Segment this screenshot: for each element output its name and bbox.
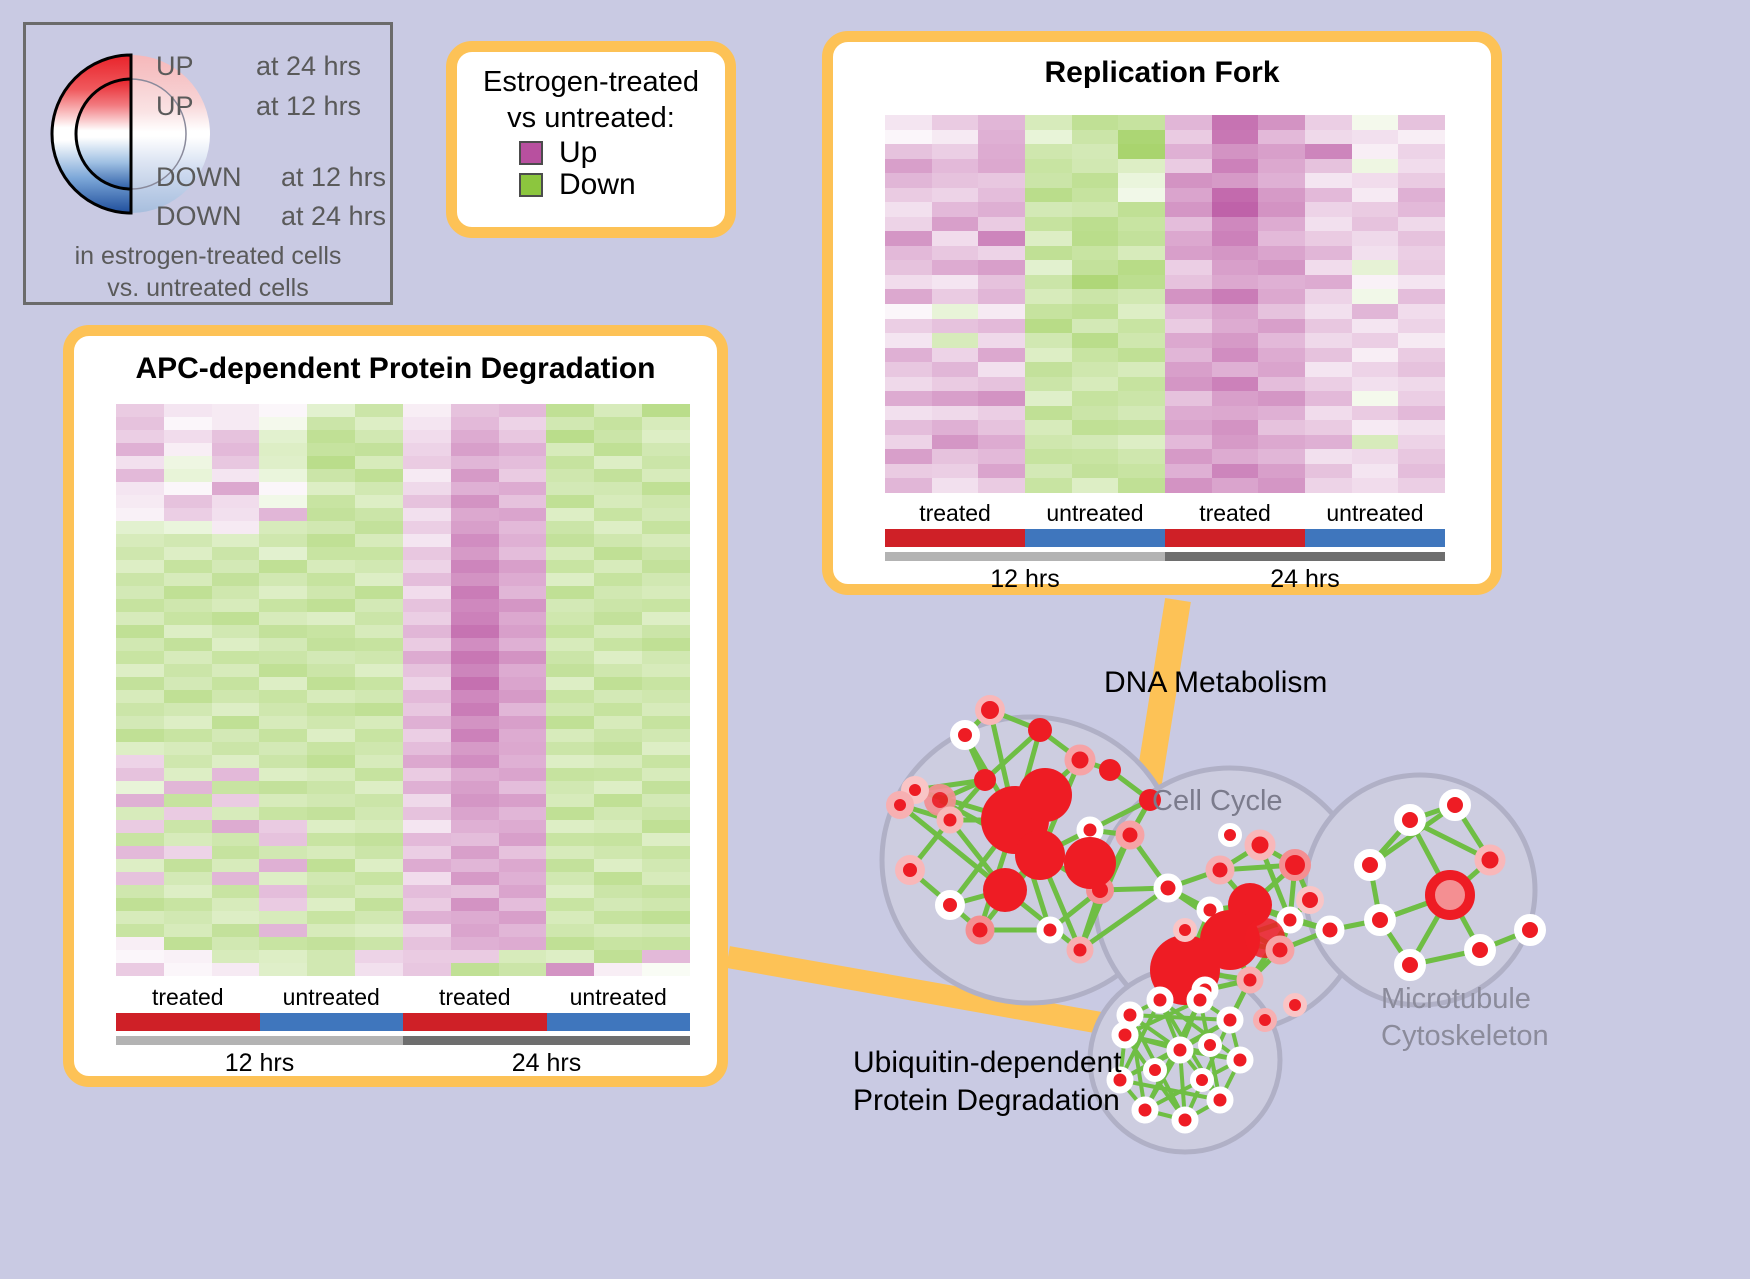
heatmap-cell xyxy=(546,495,594,508)
heatmap-cell xyxy=(594,729,642,742)
heatmap-cell xyxy=(642,937,690,950)
heatmap-cell xyxy=(164,638,212,651)
heatmap-cell xyxy=(594,508,642,521)
heatmap-cell xyxy=(885,348,932,363)
heatmap-cell xyxy=(116,742,164,755)
heatmap-cell xyxy=(355,586,403,599)
heatmap-cell xyxy=(594,495,642,508)
heatmap-cell xyxy=(1352,406,1399,421)
heatmap-cell xyxy=(116,456,164,469)
heatmap-cell xyxy=(1118,435,1165,450)
heatmap-cell xyxy=(164,911,212,924)
heatmap-cell xyxy=(642,521,690,534)
heatmap-cell xyxy=(164,430,212,443)
color-key-label-down12: DOWN xyxy=(156,162,241,193)
heatmap-cell xyxy=(116,950,164,963)
heatmap-cell xyxy=(1398,115,1445,130)
heatmap-cell xyxy=(451,729,499,742)
heatmap-cell xyxy=(1212,420,1259,435)
apc-group-bar-1 xyxy=(260,1013,404,1031)
heatmap-cell xyxy=(403,898,451,911)
heatmap-cell xyxy=(1118,478,1165,493)
heatmap-cell xyxy=(1212,289,1259,304)
heatmap-cell xyxy=(1118,406,1165,421)
heatmap-cell xyxy=(932,173,979,188)
heatmap-cell xyxy=(594,807,642,820)
heatmap-cell xyxy=(499,612,547,625)
rf-group-bar-2 xyxy=(1165,529,1305,547)
heatmap-cell xyxy=(164,729,212,742)
heatmap-cell xyxy=(594,573,642,586)
heatmap-cell xyxy=(546,508,594,521)
heatmap-cell xyxy=(978,289,1025,304)
heatmap-cell xyxy=(546,807,594,820)
heatmap-cell xyxy=(642,768,690,781)
heatmap-cell xyxy=(355,547,403,560)
heatmap-cell xyxy=(355,651,403,664)
heatmap-cell xyxy=(1352,362,1399,377)
heatmap-cell xyxy=(594,586,642,599)
heatmap-cell xyxy=(642,963,690,976)
heatmap-cell xyxy=(259,638,307,651)
heatmap-cell xyxy=(594,625,642,638)
heatmap-cell xyxy=(307,599,355,612)
heatmap-cell xyxy=(642,573,690,586)
heatmap-cell xyxy=(885,420,932,435)
heatmap-cell xyxy=(932,144,979,159)
apc-timepoint-bar-24 xyxy=(403,1036,690,1045)
heatmap-cell xyxy=(212,794,260,807)
heatmap-cell xyxy=(1118,289,1165,304)
heatmap-cell xyxy=(642,443,690,456)
heatmap-cell xyxy=(259,599,307,612)
heatmap-cell xyxy=(355,456,403,469)
heatmap-cell xyxy=(1398,449,1445,464)
heatmap-cell xyxy=(116,885,164,898)
heatmap-cell xyxy=(307,560,355,573)
rf-timepoint-bar xyxy=(885,552,1445,561)
heatmap-cell xyxy=(355,898,403,911)
heatmap-cell xyxy=(212,846,260,859)
heatmap-cell xyxy=(642,625,690,638)
heatmap-cell xyxy=(355,963,403,976)
heatmap-cell xyxy=(307,807,355,820)
cluster-label-cell-cycle: Cell Cycle xyxy=(1152,785,1283,818)
heatmap-cell xyxy=(403,937,451,950)
heatmap-cell xyxy=(212,586,260,599)
heatmap-cell xyxy=(1212,391,1259,406)
heatmap-cell xyxy=(1072,130,1119,145)
heatmap-cell xyxy=(1072,304,1119,319)
heatmap-cell xyxy=(1305,420,1352,435)
heatmap-cell xyxy=(978,275,1025,290)
heatmap-cell xyxy=(307,508,355,521)
heatmap-cell xyxy=(594,755,642,768)
heatmap-cell xyxy=(932,406,979,421)
heatmap-cell xyxy=(499,924,547,937)
heatmap-cell xyxy=(1352,130,1399,145)
heatmap-cell xyxy=(1072,406,1119,421)
heatmap-cell xyxy=(1352,348,1399,363)
heatmap-cell xyxy=(212,612,260,625)
heatmap-cell xyxy=(1212,435,1259,450)
heatmap-cell xyxy=(307,794,355,807)
cluster-label-dna-metabolism: DNA Metabolism xyxy=(1104,666,1327,700)
heatmap-cell xyxy=(212,898,260,911)
heatmap-cell xyxy=(1165,289,1212,304)
heatmap-cell xyxy=(1212,464,1259,479)
heatmap-cell xyxy=(451,521,499,534)
heatmap-cell xyxy=(307,404,355,417)
heatmap-cell xyxy=(642,547,690,560)
heatmap-cell xyxy=(1398,260,1445,275)
heatmap-cell xyxy=(1165,377,1212,392)
heatmap-cell xyxy=(1258,202,1305,217)
heatmap-cell xyxy=(1212,348,1259,363)
heatmap-cell xyxy=(594,430,642,443)
color-key-time-up12: at 12 hrs xyxy=(256,91,361,122)
heatmap-cell xyxy=(642,430,690,443)
heatmap-cell xyxy=(546,781,594,794)
heatmap-cell xyxy=(1212,260,1259,275)
heatmap-cell xyxy=(259,404,307,417)
heatmap-cell xyxy=(1305,319,1352,334)
heatmap-cell xyxy=(642,664,690,677)
heatmap-cell xyxy=(116,716,164,729)
heatmap-cell xyxy=(1072,449,1119,464)
heatmap-cell xyxy=(932,319,979,334)
heatmap-cell xyxy=(932,289,979,304)
heatmap-cell xyxy=(1165,348,1212,363)
rf-timepoint-bar-24 xyxy=(1165,552,1445,561)
replication-fork-heatmap xyxy=(885,115,1445,493)
heatmap-cell xyxy=(212,872,260,885)
cluster-label-microtubule-line1: Microtubule xyxy=(1381,981,1549,1018)
heatmap-cell xyxy=(307,690,355,703)
heatmap-cell xyxy=(1118,231,1165,246)
heatmap-cell xyxy=(164,859,212,872)
heatmap-cell xyxy=(1352,478,1399,493)
heatmap-cell xyxy=(546,755,594,768)
heatmap-cell xyxy=(212,495,260,508)
color-key-footer-line1: in estrogen-treated cells xyxy=(26,240,390,272)
heatmap-cell xyxy=(355,781,403,794)
heatmap-cell xyxy=(1118,449,1165,464)
heatmap-cell xyxy=(1305,188,1352,203)
heatmap-cell xyxy=(307,430,355,443)
heatmap-cell xyxy=(403,729,451,742)
heatmap-cell xyxy=(1212,144,1259,159)
rf-group-label-2: treated xyxy=(1165,500,1305,527)
legend-swatch-down xyxy=(519,173,543,197)
heatmap-cell xyxy=(212,885,260,898)
heatmap-cell xyxy=(1212,275,1259,290)
heatmap-cell xyxy=(499,404,547,417)
heatmap-cell xyxy=(1258,391,1305,406)
heatmap-cell xyxy=(259,677,307,690)
color-key-label-down24: DOWN xyxy=(156,201,241,232)
heatmap-cell xyxy=(594,872,642,885)
heatmap-cell xyxy=(355,495,403,508)
heatmap-cell xyxy=(164,495,212,508)
heatmap-cell xyxy=(642,820,690,833)
heatmap-cell xyxy=(1072,275,1119,290)
heatmap-cell xyxy=(1118,464,1165,479)
heatmap-cell xyxy=(1305,144,1352,159)
heatmap-cell xyxy=(978,304,1025,319)
network-diagram xyxy=(790,620,1750,1279)
heatmap-cell xyxy=(451,612,499,625)
heatmap-cell xyxy=(212,547,260,560)
heatmap-cell xyxy=(259,898,307,911)
heatmap-cell xyxy=(594,547,642,560)
heatmap-cell xyxy=(403,534,451,547)
heatmap-cell xyxy=(1258,188,1305,203)
heatmap-cell xyxy=(451,625,499,638)
heatmap-cell xyxy=(403,560,451,573)
heatmap-cell xyxy=(546,924,594,937)
heatmap-cell xyxy=(116,794,164,807)
heatmap-cell xyxy=(642,924,690,937)
heatmap-cell xyxy=(1072,319,1119,334)
heatmap-cell xyxy=(116,729,164,742)
heatmap-cell xyxy=(546,950,594,963)
heatmap-cell xyxy=(642,404,690,417)
heatmap-cell xyxy=(355,560,403,573)
heatmap-cell xyxy=(307,534,355,547)
heatmap-cell xyxy=(355,820,403,833)
heatmap-cell xyxy=(116,612,164,625)
heatmap-cell xyxy=(1025,217,1072,232)
heatmap-cell xyxy=(1352,464,1399,479)
heatmap-cell xyxy=(499,417,547,430)
heatmap-cell xyxy=(1258,420,1305,435)
heatmap-cell xyxy=(546,573,594,586)
heatmap-cell xyxy=(164,924,212,937)
heatmap-cell xyxy=(885,202,932,217)
heatmap-cell xyxy=(1398,391,1445,406)
heatmap-cell xyxy=(1398,406,1445,421)
heatmap-cell xyxy=(1118,217,1165,232)
legend-title: Estrogen-treated vs untreated: xyxy=(457,64,725,136)
heatmap-cell xyxy=(403,547,451,560)
heatmap-cell xyxy=(307,885,355,898)
heatmap-cell xyxy=(355,417,403,430)
heatmap-cell xyxy=(499,755,547,768)
heatmap-cell xyxy=(642,794,690,807)
heatmap-cell xyxy=(212,677,260,690)
heatmap-cell xyxy=(164,573,212,586)
apc-timepoint-bar-12 xyxy=(116,1036,403,1045)
apc-annotation: treated untreated treated untreated 12 h… xyxy=(116,984,690,1078)
heatmap-cell xyxy=(451,560,499,573)
heatmap-cell xyxy=(1398,348,1445,363)
heatmap-cell xyxy=(1072,435,1119,450)
heatmap-cell xyxy=(546,521,594,534)
heatmap-cell xyxy=(116,859,164,872)
heatmap-cell xyxy=(1398,435,1445,450)
heatmap-cell xyxy=(594,781,642,794)
heatmap-cell xyxy=(307,833,355,846)
heatmap-cell xyxy=(307,638,355,651)
heatmap-cell xyxy=(642,560,690,573)
heatmap-cell xyxy=(546,586,594,599)
heatmap-cell xyxy=(1352,144,1399,159)
heatmap-cell xyxy=(212,781,260,794)
heatmap-cell xyxy=(1398,246,1445,261)
heatmap-cell xyxy=(1072,159,1119,174)
rf-timepoint-bar-12 xyxy=(885,552,1165,561)
heatmap-cell xyxy=(499,534,547,547)
heatmap-cell xyxy=(1212,406,1259,421)
heatmap-cell xyxy=(1352,202,1399,217)
heatmap-cell xyxy=(932,333,979,348)
heatmap-cell xyxy=(116,534,164,547)
heatmap-cell xyxy=(499,911,547,924)
heatmap-cell xyxy=(546,443,594,456)
heatmap-cell xyxy=(1118,202,1165,217)
heatmap-cell xyxy=(594,937,642,950)
color-key-footer: in estrogen-treated cells vs. untreated … xyxy=(26,240,390,304)
heatmap-cell xyxy=(212,820,260,833)
heatmap-cell xyxy=(642,482,690,495)
heatmap-cell xyxy=(1072,173,1119,188)
heatmap-cell xyxy=(642,781,690,794)
heatmap-cell xyxy=(1212,159,1259,174)
heatmap-cell xyxy=(403,638,451,651)
heatmap-cell xyxy=(978,435,1025,450)
heatmap-cell xyxy=(259,417,307,430)
heatmap-cell xyxy=(594,833,642,846)
heatmap-cell xyxy=(1165,188,1212,203)
heatmap-cell xyxy=(546,768,594,781)
heatmap-cell xyxy=(885,464,932,479)
heatmap-cell xyxy=(642,911,690,924)
heatmap-cell xyxy=(594,820,642,833)
heatmap-cell xyxy=(1258,144,1305,159)
rf-group-label-3: untreated xyxy=(1305,500,1445,527)
heatmap-cell xyxy=(1305,435,1352,450)
heatmap-cell xyxy=(212,573,260,586)
heatmap-cell xyxy=(116,417,164,430)
heatmap-cell xyxy=(642,742,690,755)
heatmap-cell xyxy=(1165,304,1212,319)
heatmap-cell xyxy=(1118,304,1165,319)
heatmap-cell xyxy=(1258,130,1305,145)
heatmap-cell xyxy=(403,625,451,638)
color-key-time-down12: at 12 hrs xyxy=(281,162,386,193)
heatmap-cell xyxy=(1305,304,1352,319)
heatmap-cell xyxy=(642,755,690,768)
heatmap-cell xyxy=(212,664,260,677)
heatmap-cell xyxy=(594,898,642,911)
heatmap-cell xyxy=(403,924,451,937)
heatmap-cell xyxy=(212,950,260,963)
heatmap-cell xyxy=(1165,202,1212,217)
heatmap-cell xyxy=(116,911,164,924)
heatmap-cell xyxy=(212,443,260,456)
apc-timepoint-bar xyxy=(116,1036,690,1045)
heatmap-cell xyxy=(307,755,355,768)
heatmap-cell xyxy=(307,573,355,586)
heatmap-cell xyxy=(451,755,499,768)
heatmap-cell xyxy=(355,846,403,859)
heatmap-cell xyxy=(1352,217,1399,232)
heatmap-cell xyxy=(546,859,594,872)
color-key-label-up12: UP xyxy=(156,91,194,122)
heatmap-cell xyxy=(164,807,212,820)
heatmap-cell xyxy=(1398,333,1445,348)
heatmap-cell xyxy=(1352,420,1399,435)
heatmap-cell xyxy=(307,963,355,976)
heatmap-cell xyxy=(1398,173,1445,188)
heatmap-cell xyxy=(212,625,260,638)
heatmap-cell xyxy=(212,430,260,443)
heatmap-cell xyxy=(1025,348,1072,363)
heatmap-cell xyxy=(1352,304,1399,319)
heatmap-cell xyxy=(642,833,690,846)
replication-fork-annotation: treated untreated treated untreated 12 h… xyxy=(885,500,1445,594)
heatmap-cell xyxy=(164,599,212,612)
heatmap-cell xyxy=(932,304,979,319)
heatmap-cell xyxy=(355,716,403,729)
heatmap-cell xyxy=(212,599,260,612)
heatmap-cell xyxy=(1212,115,1259,130)
heatmap-cell xyxy=(932,464,979,479)
heatmap-cell xyxy=(499,638,547,651)
heatmap-cell xyxy=(451,703,499,716)
heatmap-cell xyxy=(355,521,403,534)
heatmap-cell xyxy=(1305,391,1352,406)
heatmap-cell xyxy=(1165,115,1212,130)
heatmap-cell xyxy=(1165,478,1212,493)
heatmap-cell xyxy=(546,937,594,950)
heatmap-cell xyxy=(1212,188,1259,203)
heatmap-cell xyxy=(546,417,594,430)
heatmap-cell xyxy=(212,560,260,573)
heatmap-cell xyxy=(1258,173,1305,188)
heatmap-cell xyxy=(164,612,212,625)
heatmap-cell xyxy=(1118,275,1165,290)
rf-timepoint-label-24: 24 hrs xyxy=(1165,565,1445,594)
heatmap-cell xyxy=(499,443,547,456)
heatmap-cell xyxy=(403,521,451,534)
heatmap-cell xyxy=(164,651,212,664)
heatmap-cell xyxy=(451,677,499,690)
heatmap-cell xyxy=(307,586,355,599)
heatmap-cell xyxy=(1258,115,1305,130)
heatmap-cell xyxy=(499,521,547,534)
heatmap-cell xyxy=(499,898,547,911)
heatmap-cell xyxy=(978,188,1025,203)
heatmap-cell xyxy=(1072,217,1119,232)
heatmap-cell xyxy=(642,859,690,872)
heatmap-cell xyxy=(116,430,164,443)
heatmap-cell xyxy=(1025,319,1072,334)
heatmap-cell xyxy=(451,586,499,599)
heatmap-cell xyxy=(1118,188,1165,203)
heatmap-cell xyxy=(164,404,212,417)
heatmap-cell xyxy=(932,202,979,217)
heatmap-cell xyxy=(403,417,451,430)
heatmap-cell xyxy=(594,885,642,898)
rf-group-bar-1 xyxy=(1025,529,1165,547)
heatmap-cell xyxy=(932,391,979,406)
heatmap-cell xyxy=(885,173,932,188)
heatmap-cell xyxy=(1352,391,1399,406)
heatmap-cell xyxy=(307,924,355,937)
heatmap-cell xyxy=(642,677,690,690)
